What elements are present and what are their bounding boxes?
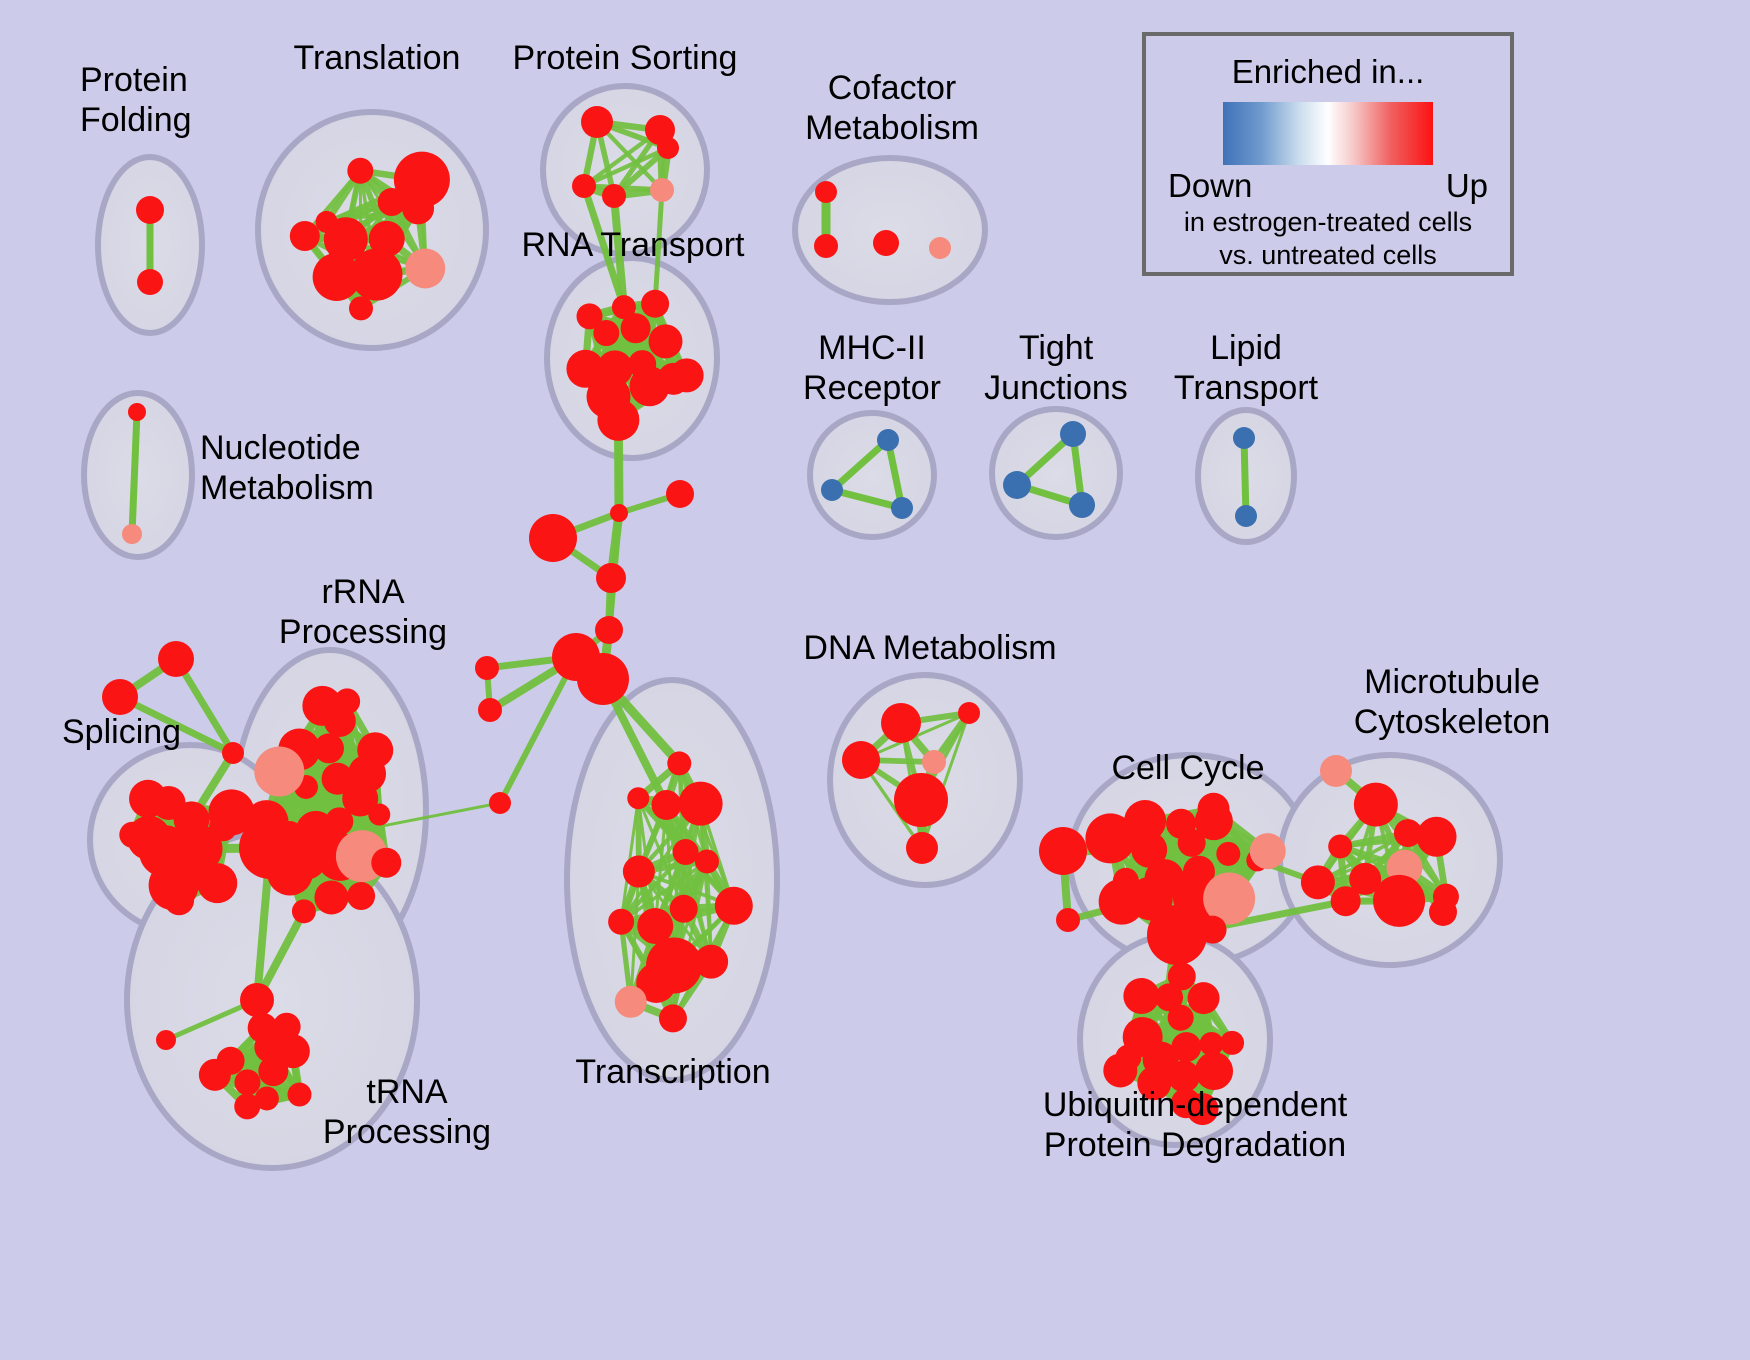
network-node: [1328, 834, 1352, 858]
network-node: [1220, 1031, 1244, 1055]
network-node: [877, 429, 899, 451]
network-node: [1250, 833, 1286, 869]
network-node: [597, 399, 639, 441]
network-node: [612, 295, 636, 319]
network-node: [313, 253, 361, 301]
network-node: [1195, 1052, 1233, 1090]
network-node: [489, 792, 511, 814]
network-node: [1233, 427, 1255, 449]
legend-title: Enriched in...: [1146, 53, 1510, 91]
network-node: [670, 358, 704, 392]
legend-high-label: Up: [1446, 167, 1488, 205]
network-edge: [1202, 998, 1203, 1109]
legend-low-label: Down: [1168, 167, 1252, 205]
network-node: [894, 773, 948, 827]
network-node: [405, 248, 445, 288]
network-node: [347, 882, 375, 910]
network-node: [694, 945, 728, 979]
network-node: [572, 174, 596, 198]
network-node: [478, 698, 502, 722]
network-node: [602, 184, 626, 208]
network-node: [1429, 898, 1457, 926]
network-node: [958, 702, 980, 724]
network-node: [119, 822, 145, 848]
network-node: [1056, 908, 1080, 932]
network-node: [254, 746, 304, 796]
network-node: [357, 732, 393, 768]
network-node: [673, 839, 699, 865]
network-node: [316, 211, 338, 233]
network-edge: [132, 412, 137, 534]
network-node: [1137, 1066, 1171, 1100]
network-node: [577, 303, 603, 329]
network-node: [1301, 865, 1335, 899]
network-node: [1069, 492, 1095, 518]
network-node: [1003, 471, 1031, 499]
network-node: [659, 1004, 687, 1032]
network-node: [158, 641, 194, 677]
network-node: [1331, 886, 1361, 916]
network-node: [679, 782, 723, 826]
network-node: [815, 181, 837, 203]
cluster-hull-mhc-ii-receptor: [810, 413, 934, 537]
network-node: [1103, 1053, 1137, 1087]
network-node: [137, 269, 163, 295]
network-node: [595, 616, 623, 644]
network-node: [566, 350, 604, 388]
network-node: [667, 751, 691, 775]
network-node: [651, 790, 681, 820]
network-node: [239, 817, 301, 879]
legend-caption-line1: in estrogen-treated cells: [1146, 207, 1510, 238]
network-node: [670, 895, 698, 923]
network-node: [287, 1083, 311, 1107]
network-node: [906, 832, 938, 864]
network-node: [475, 656, 499, 680]
network-node: [891, 497, 913, 519]
network-node: [371, 848, 401, 878]
network-node: [129, 780, 167, 818]
network-node: [222, 742, 244, 764]
network-node: [649, 324, 683, 358]
network-node: [1085, 813, 1135, 863]
legend-box: Enriched in... Down Up in estrogen-treat…: [1142, 32, 1514, 276]
network-node: [1039, 827, 1087, 875]
network-node: [610, 504, 628, 522]
network-node: [1216, 842, 1240, 866]
network-node: [615, 986, 647, 1018]
network-node: [394, 152, 450, 208]
network-node: [881, 703, 921, 743]
network-node: [650, 178, 674, 202]
network-node: [368, 804, 390, 826]
network-node: [529, 514, 577, 562]
network-node: [1060, 421, 1086, 447]
network-node: [821, 479, 843, 501]
network-node: [156, 1030, 176, 1050]
network-node: [164, 885, 194, 915]
network-node: [102, 679, 138, 715]
network-node: [1373, 875, 1425, 927]
network-node: [627, 787, 649, 809]
network-node: [334, 688, 360, 714]
legend-caption-line2: vs. untreated cells: [1146, 240, 1510, 271]
network-node: [814, 234, 838, 258]
network-node: [873, 230, 899, 256]
network-node: [128, 403, 146, 421]
network-node: [234, 1069, 260, 1095]
network-node: [314, 880, 348, 914]
network-node: [234, 1093, 260, 1119]
network-node: [1099, 879, 1145, 925]
network-node: [1186, 1093, 1218, 1125]
network-node: [136, 196, 164, 224]
network-edge: [1244, 438, 1246, 516]
network-node: [1198, 793, 1230, 825]
network-node: [657, 137, 679, 159]
network-node: [347, 158, 373, 184]
network-node: [641, 290, 669, 318]
network-node: [273, 1013, 301, 1041]
legend-color-bar: [1223, 102, 1433, 165]
network-node: [1235, 505, 1257, 527]
network-node: [1123, 978, 1159, 1014]
network-node: [929, 237, 951, 259]
network-node: [349, 296, 373, 320]
network-node: [581, 106, 613, 138]
network-node: [1166, 809, 1196, 839]
network-node: [922, 750, 946, 774]
network-node: [577, 653, 629, 705]
network-node: [1147, 905, 1207, 965]
network-node: [1168, 1060, 1200, 1092]
network-node: [240, 983, 274, 1017]
network-node: [292, 899, 316, 923]
enrichment-map-figure: Protein Folding Translation Protein Sort…: [0, 0, 1750, 1360]
network-node: [122, 524, 142, 544]
network-node: [666, 480, 694, 508]
network-node: [1354, 783, 1398, 827]
network-node: [290, 221, 320, 251]
network-node: [1320, 755, 1352, 787]
network-node: [596, 563, 626, 593]
network-node: [608, 909, 634, 935]
network-node: [695, 849, 719, 873]
network-node: [842, 741, 880, 779]
cluster-hull-protein-sorting: [543, 86, 707, 254]
network-node: [197, 863, 237, 903]
network-node: [1168, 962, 1196, 990]
network-node: [199, 1059, 231, 1091]
network-node: [1188, 982, 1220, 1014]
network-node: [623, 856, 655, 888]
network-node: [715, 887, 753, 925]
network-node: [1417, 817, 1457, 857]
